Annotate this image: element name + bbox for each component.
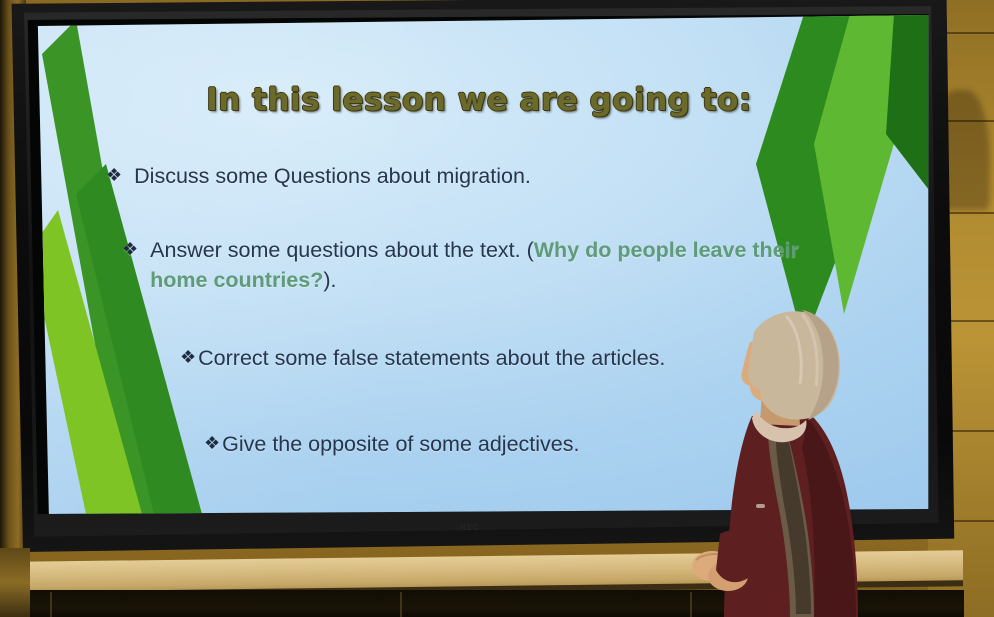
slide-bullet-2-tail: ). — [323, 268, 336, 292]
slide-bullet-2: ❖ Answer some questions about the text. … — [122, 236, 842, 295]
credenza-side-panel — [0, 548, 30, 617]
display-brand-logo: NEC — [452, 523, 488, 532]
diamond-bullet-icon: ❖ — [122, 236, 138, 263]
presenter-lapel-detail — [756, 504, 765, 508]
slide-bullet-2-text: Answer some questions about the text. (W… — [150, 236, 842, 295]
diamond-bullet-icon: ❖ — [204, 430, 220, 457]
classroom-scene: In this lesson we are going to: ❖ Discus… — [0, 0, 994, 617]
slide-bullet-1: ❖ Discuss some Questions about migration… — [106, 162, 746, 192]
diamond-bullet-icon: ❖ — [180, 344, 196, 371]
slide-bullet-3-text: Correct some false statements about the … — [198, 344, 665, 374]
credenza-seam — [50, 592, 52, 617]
presenter — [690, 298, 920, 617]
slide-bullet-4: ❖ Give the opposite of some adjectives. — [204, 430, 764, 460]
slide-bullet-2-lead: Answer some questions about the text. ( — [150, 238, 534, 262]
diamond-bullet-icon: ❖ — [106, 162, 122, 189]
credenza-seam — [400, 592, 402, 617]
slide-bullet-1-text: Discuss some Questions about migration. — [134, 162, 531, 192]
slide-bullet-4-text: Give the opposite of some adjectives. — [222, 430, 579, 460]
